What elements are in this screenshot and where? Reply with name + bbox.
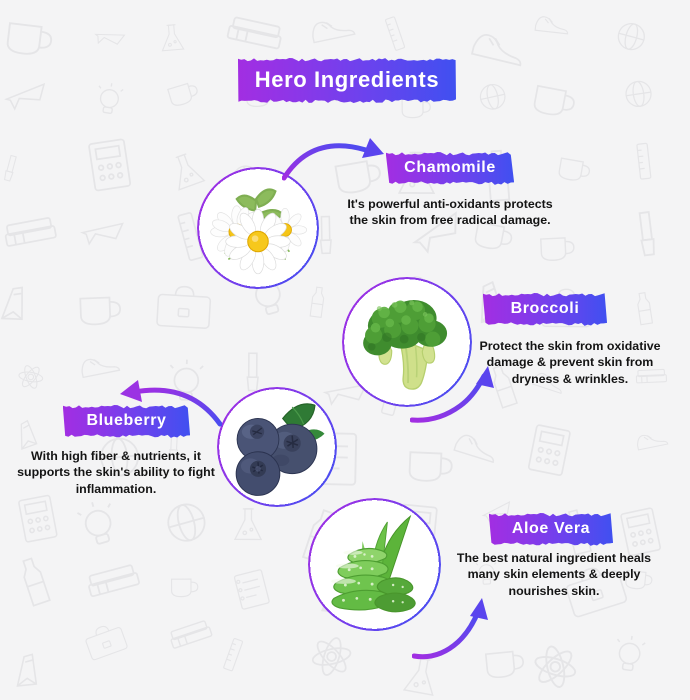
- infographic-canvas: Hero Ingredients: [0, 0, 690, 700]
- ingredient-label-chamomile: Chamomile: [386, 152, 514, 185]
- broccoli-photo: [345, 280, 469, 404]
- ingredient-label-blueberry: Blueberry: [63, 405, 190, 438]
- ingredient-label-aloe: Aloe Vera: [489, 513, 613, 546]
- label-text: Chamomile: [404, 159, 496, 177]
- page-title: Hero Ingredients: [255, 67, 439, 93]
- ingredient-image-blueberry: [217, 387, 337, 507]
- page-title-banner: Hero Ingredients: [238, 58, 456, 103]
- ingredient-image-aloe: [308, 498, 441, 631]
- ingredient-image-broccoli: [342, 277, 472, 407]
- aloe-vera-photo: [311, 501, 438, 628]
- label-text: Broccoli: [511, 300, 580, 318]
- ingredient-description-chamomile: It's powerful anti-oxidants protects the…: [344, 196, 556, 229]
- ingredient-description-broccoli: Protect the skin from oxidative damage &…: [462, 338, 678, 387]
- label-text: Aloe Vera: [512, 520, 590, 538]
- ingredient-description-blueberry: With high fiber & nutrients, it supports…: [10, 448, 222, 497]
- ingredient-description-aloe: The best natural ingredient heals many s…: [443, 550, 665, 599]
- chamomile-flowers-photo: [200, 170, 316, 286]
- ingredient-image-chamomile: [197, 167, 319, 289]
- ingredient-label-broccoli: Broccoli: [483, 293, 607, 326]
- label-text: Blueberry: [86, 412, 166, 430]
- blueberries-photo: [220, 390, 334, 504]
